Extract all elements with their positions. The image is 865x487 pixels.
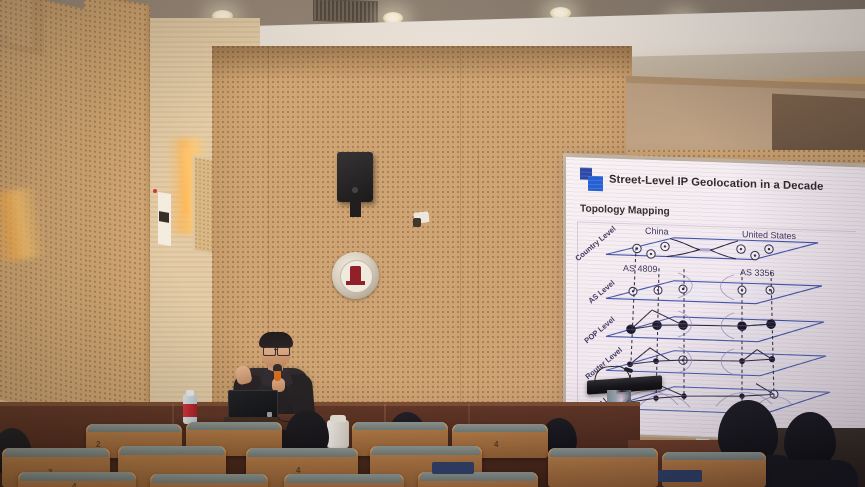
security-camera-lens-icon [413, 218, 421, 227]
microphone-head-icon [273, 364, 282, 371]
presenter-glasses-bridge-icon [274, 349, 278, 350]
laptop-logo-icon [267, 412, 272, 417]
seat-number: 4 [494, 440, 498, 449]
seat-top [88, 424, 180, 432]
seat-number: 4 [72, 482, 76, 487]
seat-top [20, 472, 134, 481]
seat-top [4, 448, 108, 457]
seat-top [120, 446, 224, 455]
wall-joint [460, 46, 461, 422]
svg-text:United States: United States [742, 229, 797, 241]
svg-text:AS 4809: AS 4809 [623, 263, 658, 274]
presenter-hair [259, 332, 293, 348]
hvac-vent-icon [313, 0, 378, 23]
svg-text:POP Level: POP Level [582, 315, 616, 346]
stage-front-trim [0, 402, 640, 406]
wall-speaker-driver-icon [352, 187, 358, 193]
presenter-glasses-icon [277, 347, 290, 356]
seat-top [664, 452, 764, 460]
wall-panel-perforated-tall [84, 0, 150, 424]
seat-top [550, 448, 656, 457]
seat-top [454, 424, 546, 432]
seat-top [354, 422, 446, 430]
wall-recess-right [772, 94, 865, 159]
seat-top [372, 446, 480, 455]
svg-text:AS 3356: AS 3356 [740, 267, 775, 278]
wall-speaker-bracket [350, 199, 361, 217]
water-bottle-cap-icon [186, 390, 194, 396]
wall-switch-icon [159, 211, 169, 223]
wall-speaker [337, 152, 373, 202]
thermos [327, 420, 349, 448]
seat-top [152, 474, 266, 483]
wall-indicator-icon [153, 189, 157, 193]
wall-back-shadowband [212, 46, 632, 80]
audience-shoulders [768, 460, 858, 487]
university-wall-seal-base-icon [346, 281, 365, 285]
seat-top [248, 448, 356, 457]
seat-top [286, 474, 402, 483]
wall-joint [478, 150, 479, 422]
seat-cushion [658, 470, 702, 482]
svg-text:Country Level: Country Level [573, 224, 617, 263]
seat-top [188, 422, 280, 430]
water-bottle-label [183, 404, 197, 417]
svg-text:AS Level: AS Level [586, 278, 616, 305]
svg-text:China: China [645, 226, 669, 237]
seat-cushion [432, 462, 474, 474]
lecture-hall-photo: Street-Level IP Geolocation in a Decade … [0, 0, 865, 487]
thermos-cap-icon [330, 415, 346, 422]
